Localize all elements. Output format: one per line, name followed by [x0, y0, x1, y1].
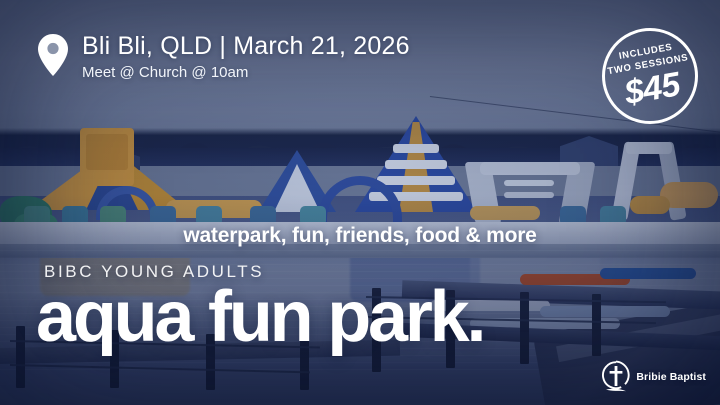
church-logo: Bribie Baptist: [599, 359, 706, 395]
badge-price: $45: [622, 67, 682, 110]
event-tagline: waterpark, fun, friends, food & more: [0, 224, 720, 248]
map-pin-icon: [38, 34, 68, 76]
price-badge: INCLUDES TWO SESSIONS $45: [594, 20, 705, 131]
location-block: Bli Bli, QLD | March 21, 2026 Meet @ Chu…: [38, 32, 410, 83]
event-headline: aqua fun park.: [36, 281, 483, 353]
event-location-date: Bli Bli, QLD | March 21, 2026: [82, 32, 410, 60]
event-meet-details: Meet @ Church @ 10am: [82, 63, 410, 83]
text-overlay-layer: Bli Bli, QLD | March 21, 2026 Meet @ Chu…: [0, 0, 720, 405]
location-text: Bli Bli, QLD | March 21, 2026 Meet @ Chu…: [82, 32, 410, 83]
cross-in-circle-icon: [599, 359, 633, 395]
church-logo-text: Bribie Baptist: [636, 371, 706, 383]
event-promo-graphic: Bli Bli, QLD | March 21, 2026 Meet @ Chu…: [0, 0, 720, 405]
